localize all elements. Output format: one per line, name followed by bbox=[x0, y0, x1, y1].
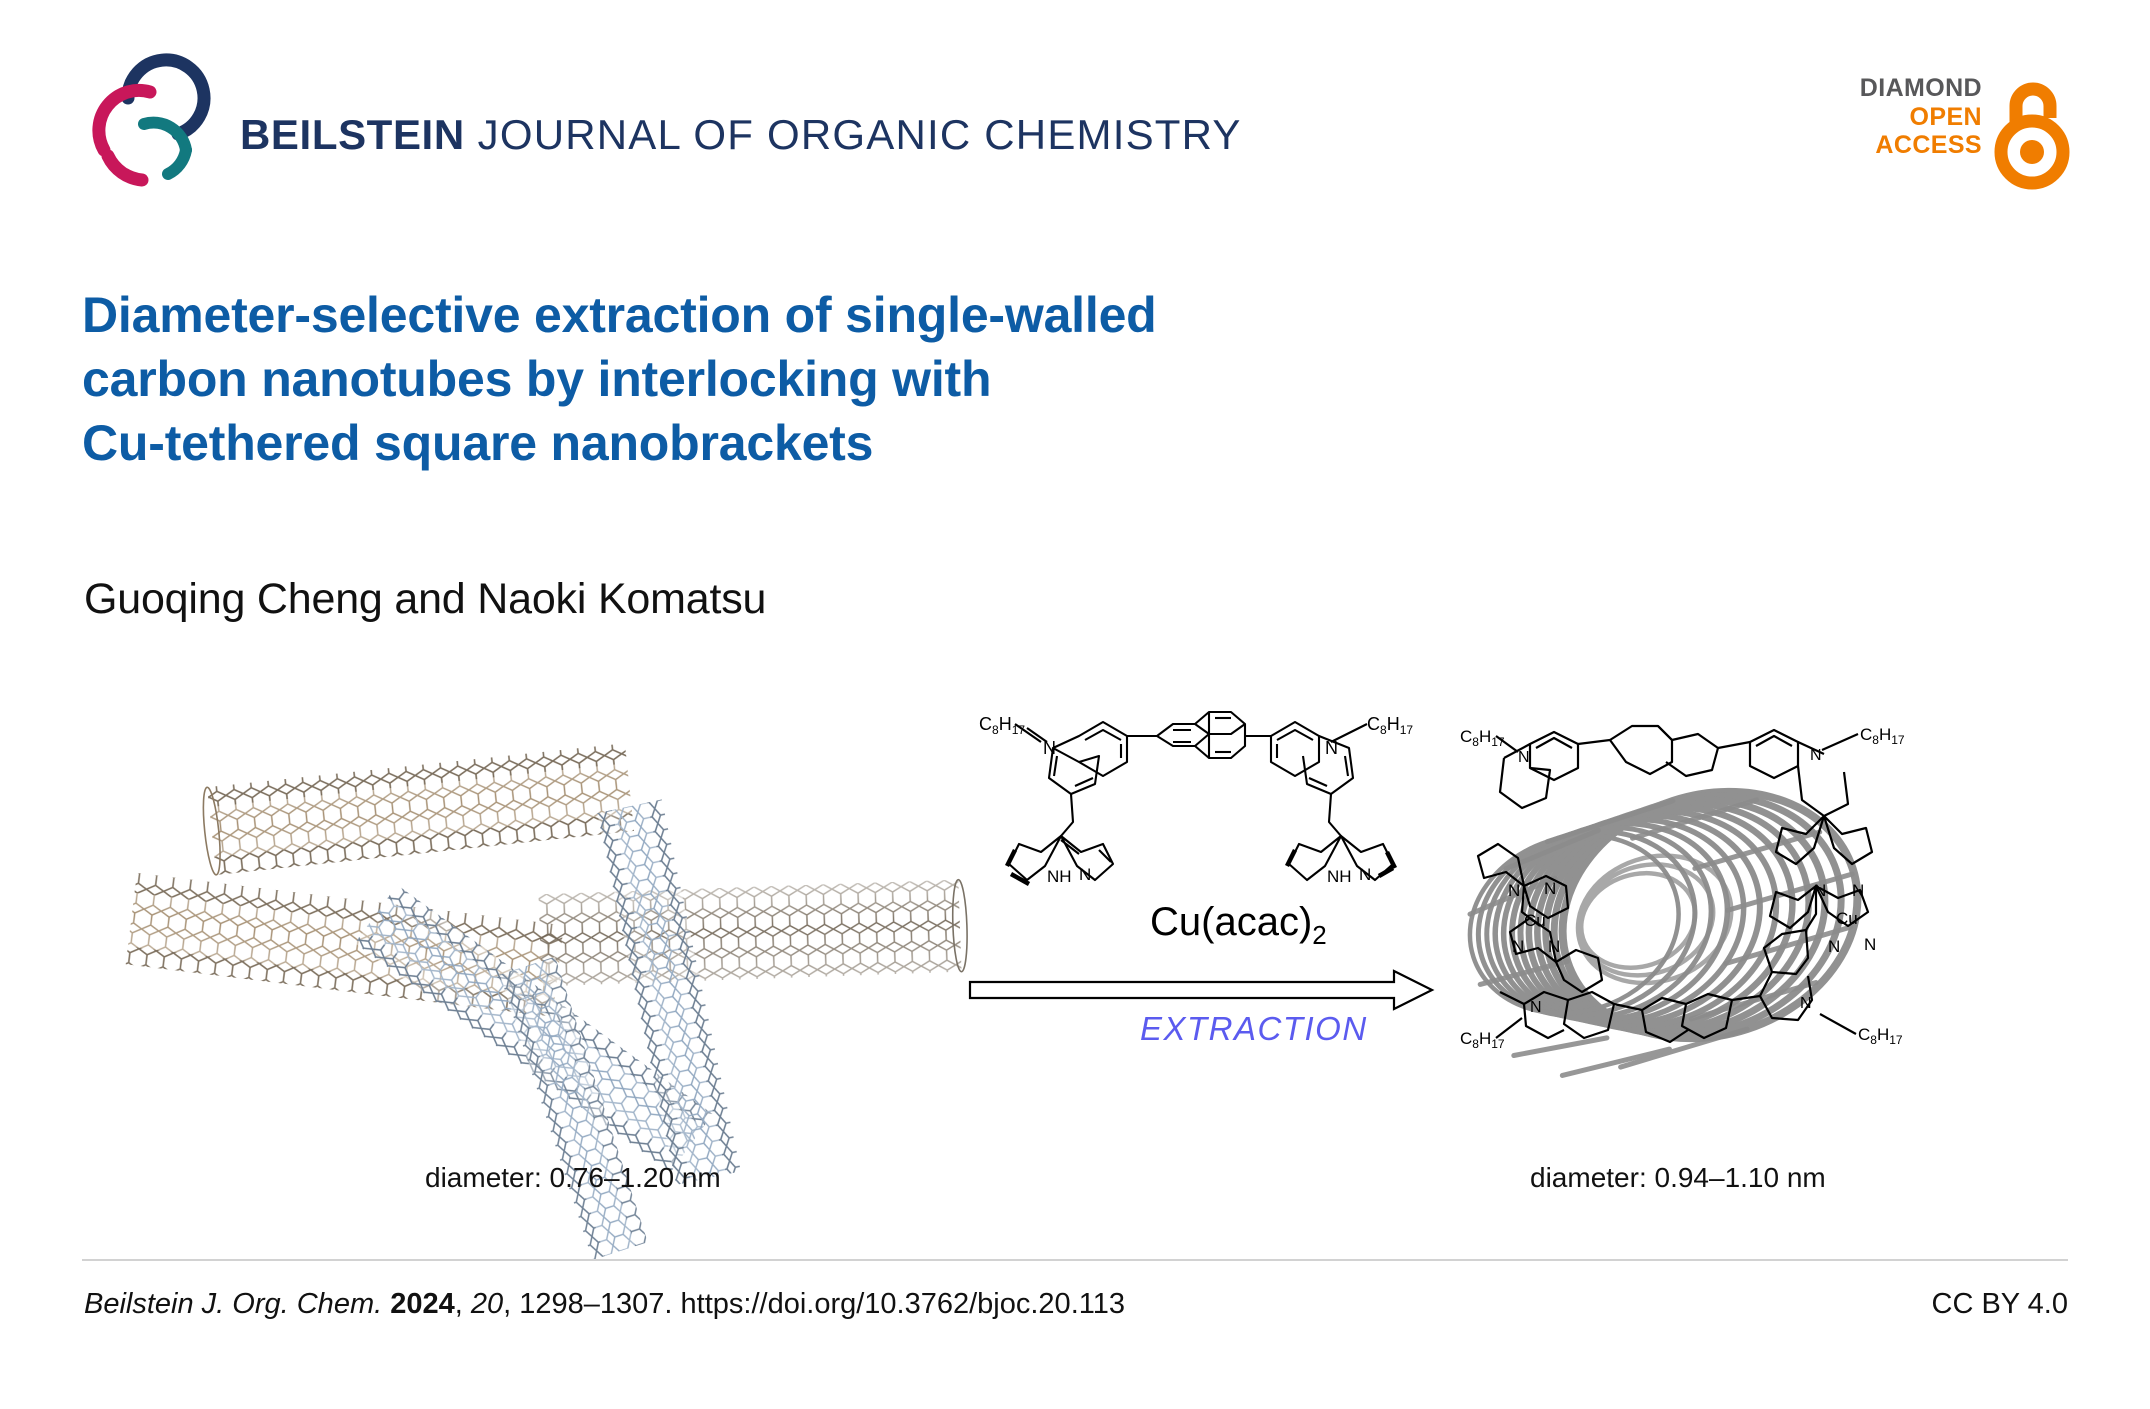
citation-year: 2024 bbox=[390, 1288, 455, 1320]
metal-label-cu-right: Cu bbox=[1836, 909, 1858, 928]
journal-name-bold: BEILSTEIN bbox=[240, 111, 465, 158]
oa-line-access: ACCESS bbox=[1860, 131, 1982, 160]
substituent-label-c8h17-bl: C8H17 bbox=[1460, 1029, 1505, 1051]
atom-label-n-left: N bbox=[1079, 865, 1091, 884]
title-line-1: Diameter-selective extraction of single-… bbox=[82, 283, 1642, 347]
citation-volume: 20 bbox=[471, 1288, 503, 1320]
beilstein-spiral-logo-icon bbox=[82, 72, 200, 190]
extraction-label: EXTRACTION bbox=[1140, 1010, 1368, 1048]
atom-label-nh-right: NH bbox=[1327, 867, 1352, 886]
atom-label-n-5: N bbox=[1814, 881, 1826, 900]
interlocked-complex-illustration: N N N N Cu N N N N Cu N N N N C8H17 C8H1… bbox=[1460, 700, 1980, 1130]
citation-pages-doi[interactable]: 1298–1307. https://doi.org/10.3762/bjoc.… bbox=[519, 1288, 1125, 1320]
atom-label-n-1: N bbox=[1508, 881, 1520, 900]
atom-label-n-7: N bbox=[1828, 937, 1840, 956]
substituent-label-c8h17-br: C8H17 bbox=[1858, 1025, 1903, 1047]
journal-name-rest: JOURNAL OF ORGANIC CHEMISTRY bbox=[478, 111, 1242, 158]
citation-comma-1: , bbox=[455, 1288, 463, 1320]
graphical-abstract-page: BEILSTEIN JOURNAL OF ORGANIC CHEMISTRY D… bbox=[0, 0, 2150, 1409]
swcnt-mixture-illustration bbox=[150, 692, 950, 1112]
title-line-2: carbon nanotubes by interlocking with bbox=[82, 347, 1642, 411]
reagent-label: Cu(acac)2 bbox=[1150, 900, 1327, 951]
citation-journal: Beilstein J. Org. Chem. bbox=[84, 1288, 382, 1320]
page-title: Diameter-selective extraction of single-… bbox=[82, 283, 1642, 475]
atom-label-n-2: N bbox=[1544, 879, 1556, 898]
substituent-label-c8h17-tr: C8H17 bbox=[1860, 725, 1905, 747]
open-padlock-icon bbox=[1990, 76, 2074, 186]
diamond-open-access-badge: DIAMOND OPEN ACCESS bbox=[1884, 70, 2074, 190]
right-panel-caption: diameter: 0.94–1.10 nm bbox=[1530, 1162, 1826, 1194]
nanotube-tan-3 bbox=[539, 879, 969, 986]
swcnt-body bbox=[1445, 755, 1890, 1104]
atom-label-n-carbazole-br: N bbox=[1800, 995, 1812, 1012]
open-access-wordmark: DIAMOND OPEN ACCESS bbox=[1860, 74, 1982, 160]
atom-label-n-4: N bbox=[1548, 937, 1560, 956]
title-line-3: Cu-tethered square nanobrackets bbox=[82, 411, 1642, 475]
left-panel-caption: diameter: 0.76–1.20 nm bbox=[425, 1162, 721, 1194]
author-list: Guoqing Cheng and Naoki Komatsu bbox=[84, 575, 766, 624]
atom-label-n-right: N bbox=[1359, 865, 1371, 884]
citation-line: Beilstein J. Org. Chem. 2024, 20, 1298–1… bbox=[84, 1288, 1125, 1321]
footer-divider bbox=[82, 1259, 2068, 1261]
oa-line-open: OPEN bbox=[1860, 103, 1982, 132]
atom-label-n-carbazole-tr: N bbox=[1810, 747, 1822, 764]
atom-label-n-carbazole-left: N bbox=[1043, 738, 1056, 758]
atom-label-n-3: N bbox=[1512, 937, 1524, 956]
atom-label-nh-left: NH bbox=[1047, 867, 1072, 886]
citation-comma-2: , bbox=[503, 1288, 511, 1320]
atom-label-n-8: N bbox=[1864, 935, 1876, 954]
metal-label-cu-left: Cu bbox=[1524, 911, 1546, 930]
substituent-label-c8h17-right: C8H17 bbox=[1367, 714, 1413, 737]
oa-line-diamond: DIAMOND bbox=[1860, 74, 1982, 103]
atom-label-n-carbazole-bl: N bbox=[1530, 999, 1542, 1016]
atom-label-n-6: N bbox=[1852, 881, 1864, 900]
journal-title: BEILSTEIN JOURNAL OF ORGANIC CHEMISTRY bbox=[240, 111, 1242, 159]
nanotube-tan-1 bbox=[200, 743, 634, 875]
page-header: BEILSTEIN JOURNAL OF ORGANIC CHEMISTRY D… bbox=[0, 0, 2150, 230]
atom-label-n-carbazole-tl: N bbox=[1518, 749, 1530, 766]
license-label: CC BY 4.0 bbox=[1932, 1288, 2068, 1321]
